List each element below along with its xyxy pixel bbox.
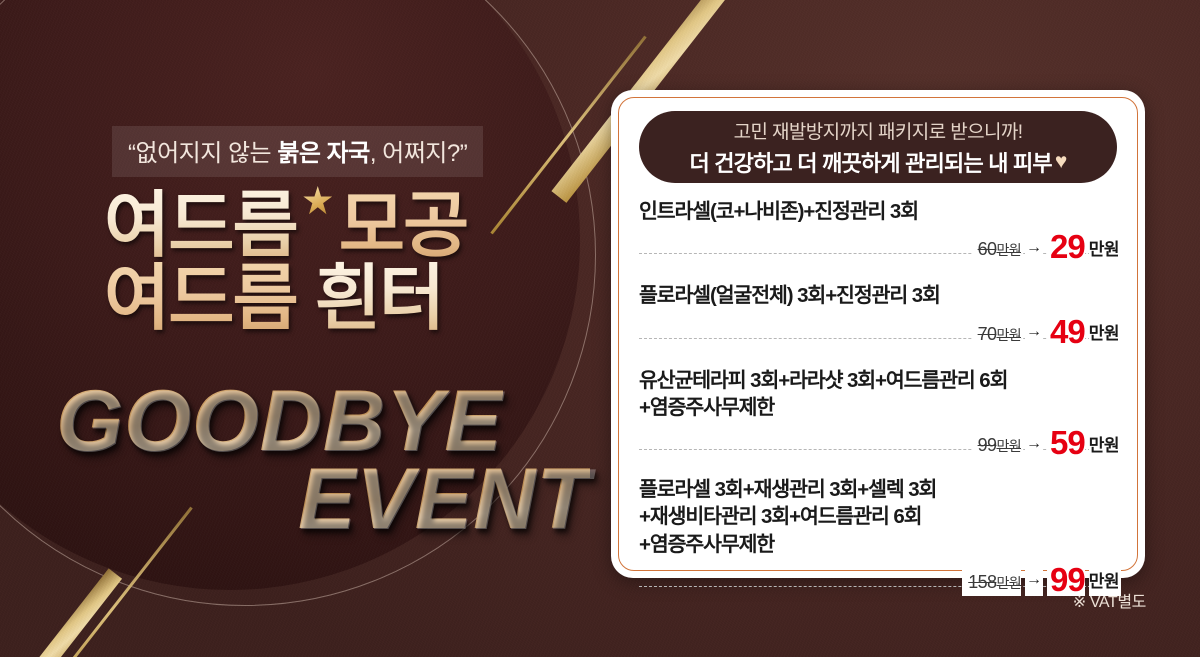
original-price: 70만원 bbox=[972, 321, 1021, 348]
headline-word-heungteo: 흰터 bbox=[315, 259, 443, 339]
tagline-pre: “없어지지 않는 bbox=[128, 140, 277, 167]
package-title-line: 인트라셀(코+나비존)+진정관리 3회 bbox=[639, 198, 1121, 225]
list-item[interactable]: 인트라셀(코+나비존)+진정관리 3회 60만원 → 29 만원 bbox=[639, 198, 1121, 263]
event-text: EVENT bbox=[298, 450, 590, 549]
sale-price-value: 29 bbox=[1047, 230, 1085, 263]
package-price: 60만원 → 29 만원 bbox=[639, 229, 1121, 263]
package-price: 70만원 → 49 만원 bbox=[639, 314, 1121, 348]
headline-line-2: 여드름 흰터 bbox=[104, 263, 467, 336]
promo-banner: “없어지지 않는 붉은 자국, 어쩌지?” 여드름모공 여드름 흰터 GOODB… bbox=[0, 0, 1200, 657]
package-price: 158만원 → 99 만원 bbox=[639, 562, 1121, 596]
list-item[interactable]: 플로라셀 3회+재생관리 3회+셀렉 3회 +재생비타관리 3회+여드름관리 6… bbox=[639, 476, 1121, 596]
tagline-emphasis: 붉은 자국 bbox=[277, 140, 370, 167]
original-price-unit: 만원 bbox=[996, 242, 1021, 258]
package-title-line: 플로라셀(얼굴전체) 3회+진정관리 3회 bbox=[639, 282, 1121, 309]
package-title-line: 플로라셀 3회+재생관리 3회+셀렉 3회 bbox=[639, 476, 1121, 503]
headline-line-1: 여드름모공 bbox=[104, 186, 467, 263]
package-price: 99만원 → 59 만원 bbox=[639, 425, 1121, 459]
left-content: “없어지지 않는 붉은 자국, 어쩌지?” 여드름모공 여드름 흰터 GOODB… bbox=[0, 0, 600, 657]
original-price-value: 99 bbox=[978, 435, 997, 455]
price-card: 고민 재발방지까지 패키지로 받으니까! 더 건강하고 더 깨끗하게 관리되는 … bbox=[611, 90, 1145, 578]
goodbye-event-lockup: GOODBYE EVENT bbox=[0, 372, 600, 562]
sale-price-unit: 만원 bbox=[1089, 433, 1121, 459]
package-title-line: 유산균테라피 3회+라라샷 3회+여드름관리 6회 bbox=[639, 367, 1121, 394]
list-item[interactable]: 유산균테라피 3회+라라샷 3회+여드름관리 6회 +염증주사무제한 99만원 … bbox=[639, 367, 1121, 460]
tagline-post: , 어쩌지?” bbox=[370, 140, 467, 167]
sale-price-unit: 만원 bbox=[1089, 569, 1121, 595]
page-title: 여드름모공 여드름 흰터 bbox=[104, 186, 467, 337]
arrow-icon: → bbox=[1025, 429, 1043, 459]
headline-word-yeodeureum-2: 여드름 bbox=[104, 259, 297, 339]
original-price-unit: 만원 bbox=[996, 327, 1021, 343]
list-item[interactable]: 플로라셀(얼굴전체) 3회+진정관리 3회 70만원 → 49 만원 bbox=[639, 282, 1121, 347]
sale-price-value: 99 bbox=[1047, 563, 1085, 596]
sale-price-unit: 만원 bbox=[1089, 321, 1121, 347]
package-title: 유산균테라피 3회+라라샷 3회+여드름관리 6회 +염증주사무제한 bbox=[639, 367, 1121, 422]
card-header-line-2: 더 건강하고 더 깨끗하게 관리되는 내 피부♥ bbox=[689, 146, 1066, 178]
original-price-unit: 만원 bbox=[996, 575, 1021, 591]
package-title-line: +염증주사무제한 bbox=[639, 394, 1121, 421]
card-header-line-1: 고민 재발방지까지 패키지로 받으니까! bbox=[734, 117, 1023, 144]
arrow-icon: → bbox=[1025, 565, 1043, 595]
original-price-value: 158 bbox=[968, 572, 996, 592]
package-title-line: +염증주사무제한 bbox=[639, 531, 1121, 558]
package-title: 인트라셀(코+나비존)+진정관리 3회 bbox=[639, 198, 1121, 225]
sale-price-unit: 만원 bbox=[1089, 237, 1121, 263]
package-title: 플로라셀(얼굴전체) 3회+진정관리 3회 bbox=[639, 282, 1121, 309]
original-price: 158만원 bbox=[962, 569, 1021, 596]
headline-word-yeodeureum: 여드름 bbox=[104, 186, 297, 266]
package-list: 인트라셀(코+나비존)+진정관리 3회 60만원 → 29 만원 플로라셀(얼굴… bbox=[639, 198, 1121, 596]
original-price-unit: 만원 bbox=[996, 438, 1021, 454]
headline-word-mogong: 모공 bbox=[339, 186, 467, 266]
original-price-value: 70 bbox=[978, 324, 997, 344]
original-price: 99만원 bbox=[972, 432, 1021, 459]
heart-icon: ♥ bbox=[1055, 151, 1067, 172]
tagline: “없어지지 않는 붉은 자국, 어쩌지?” bbox=[112, 126, 483, 177]
original-price-value: 60 bbox=[978, 239, 997, 259]
star-icon bbox=[303, 186, 333, 216]
card-header-pill: 고민 재발방지까지 패키지로 받으니까! 더 건강하고 더 깨끗하게 관리되는 … bbox=[639, 111, 1117, 183]
card-header-line-2-text: 더 건강하고 더 깨끗하게 관리되는 내 피부 bbox=[689, 146, 1051, 178]
package-title-line: +재생비타관리 3회+여드름관리 6회 bbox=[639, 503, 1121, 530]
sale-price-value: 49 bbox=[1047, 315, 1085, 348]
sale-price-value: 59 bbox=[1047, 426, 1085, 459]
arrow-icon: → bbox=[1025, 317, 1043, 347]
original-price: 60만원 bbox=[972, 236, 1021, 263]
package-title: 플로라셀 3회+재생관리 3회+셀렉 3회 +재생비타관리 3회+여드름관리 6… bbox=[639, 476, 1121, 558]
arrow-icon: → bbox=[1025, 233, 1043, 263]
